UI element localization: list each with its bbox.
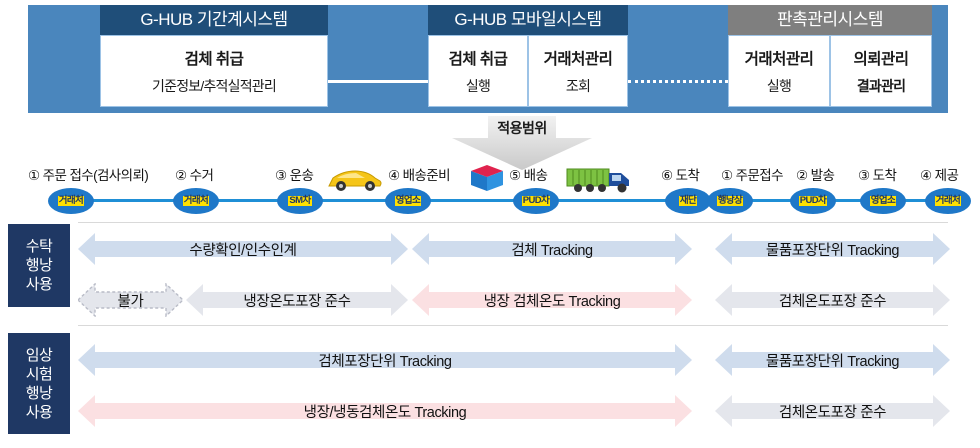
timeline-step-label: ② 수거 <box>175 164 213 184</box>
timeline-node[interactable]: SM차 <box>277 188 323 214</box>
system-cell[interactable]: 의뢰관리 결과관리 <box>830 35 932 107</box>
process-band-label: 물품포장단위 Tracking <box>766 350 899 371</box>
row-label-line: 수탁 <box>26 237 53 256</box>
timeline-node-label: PUD차 <box>522 196 550 206</box>
process-band-label: 냉장온도포장 준수 <box>243 290 350 311</box>
timeline-step-label: ③ 운송 <box>275 164 313 184</box>
system-box-promotion-mgmt: 판촉관리시스템 거래처관리 실행 의뢰관리 결과관리 <box>728 5 932 107</box>
timeline-step-label: ⑥ 도착 <box>661 164 699 184</box>
system-cell[interactable]: 검체 취급 기준정보/추적실적관리 <box>100 35 328 107</box>
timeline-step-label: ① 주문접수 <box>721 164 783 184</box>
timeline-node[interactable]: 영업소 <box>860 188 906 214</box>
timeline-step-label: ⑤ 배송 <box>509 164 547 184</box>
row-label-line: 임상 <box>26 346 53 365</box>
system-cell-line1: 거래처관리 <box>544 47 613 69</box>
timeline-node[interactable]: 영업소 <box>385 188 431 214</box>
system-cell-line1: 검체 취급 <box>185 47 244 69</box>
timeline-step-label: ④ 배송준비 <box>388 164 450 184</box>
truck-icon <box>566 165 634 195</box>
system-box-ghub-core: G-HUB 기간계시스템 검체 취급 기준정보/추적실적관리 <box>100 5 328 107</box>
system-cell-line2: 실행 <box>767 76 791 96</box>
system-cell-line1: 거래처관리 <box>745 47 814 69</box>
system-box-ghub-mobile: G-HUB 모바일시스템 검체 취급 실행 거래처관리 조회 <box>428 5 628 107</box>
row-label-clinical-trial: 임상 시험 행낭 사용 <box>8 333 70 434</box>
process-band-label: 수량확인/인수인계 <box>189 239 296 260</box>
process-band-label: 냉장/냉동검체온도 Tracking <box>304 401 467 422</box>
process-band: 냉장온도포장 준수 <box>186 283 408 317</box>
divider <box>78 325 948 326</box>
row-label-line: 사용 <box>26 403 53 422</box>
system-cell[interactable]: 검체 취급 실행 <box>428 35 528 107</box>
process-timeline: ① 주문 접수(검사의뢰) ② 수거 ③ 운송 ④ 배송준비 ⑤ 배송 ⑥ 도착… <box>0 160 980 215</box>
process-band-label: 검체온도포장 준수 <box>779 290 886 311</box>
timeline-node-label: 거래처 <box>935 196 961 206</box>
process-band-label: 물품포장단위 Tracking <box>766 239 899 260</box>
timeline-step-label: ③ 도착 <box>858 164 896 184</box>
system-title-ghub-mobile: G-HUB 모바일시스템 <box>428 5 628 35</box>
timeline-node[interactable]: 재단 <box>665 188 711 214</box>
system-cell[interactable]: 거래처관리 조회 <box>528 35 628 107</box>
system-cell-line2: 조회 <box>566 76 590 96</box>
package-icon <box>470 163 504 195</box>
car-icon <box>325 164 383 194</box>
process-band: 검체 Tracking <box>412 232 692 266</box>
system-cell-line1: 의뢰관리 <box>853 47 908 69</box>
timeline-step-label: ① 주문 접수(검사의뢰) <box>28 164 148 184</box>
row-label-line: 행낭 <box>26 384 53 403</box>
timeline-step-label: ④ 제공 <box>920 164 958 184</box>
timeline-node[interactable]: PUD차 <box>513 188 559 214</box>
system-cell-line1: 검체 취급 <box>449 47 508 69</box>
process-band: 냉장/냉동검체온도 Tracking <box>78 394 692 428</box>
systems-panel: G-HUB 기간계시스템 검체 취급 기준정보/추적실적관리 G-HUB 모바일… <box>28 5 948 113</box>
row-label-line: 시험 <box>26 365 53 384</box>
timeline-node[interactable]: 거래처 <box>48 188 94 214</box>
row-label-consignment: 수탁 행낭 사용 <box>8 224 70 307</box>
timeline-node[interactable]: PUD차 <box>790 188 836 214</box>
process-band: 냉장 검체온도 Tracking <box>412 283 692 317</box>
process-band: 검체포장단위 Tracking <box>78 343 692 377</box>
process-band: 물품포장단위 Tracking <box>715 232 950 266</box>
divider <box>78 222 948 223</box>
system-cell[interactable]: 거래처관리 실행 <box>728 35 830 107</box>
process-band-label: 불가 <box>118 290 144 311</box>
timeline-node[interactable]: 거래처 <box>173 188 219 214</box>
process-band: 물품포장단위 Tracking <box>715 343 950 377</box>
timeline-node-label: 영업소 <box>870 196 896 206</box>
process-band-label: 검체포장단위 Tracking <box>318 350 451 371</box>
scope-label: 적용범위 <box>452 118 592 138</box>
connector-dotted <box>628 80 728 83</box>
system-cell-line2: 결과관리 <box>857 76 905 96</box>
row-label-line: 사용 <box>26 275 53 294</box>
system-title-promotion-mgmt: 판촉관리시스템 <box>728 5 932 35</box>
process-band: 불가 <box>78 283 183 317</box>
timeline-step-label: ② 발송 <box>796 164 834 184</box>
timeline-node-label: 재단 <box>679 196 697 206</box>
system-cell-line2: 기준정보/추적실적관리 <box>152 76 276 96</box>
process-band: 검체온도포장 준수 <box>715 394 950 428</box>
process-band-label: 검체온도포장 준수 <box>779 401 886 422</box>
timeline-node-label: 거래처 <box>58 196 84 206</box>
timeline-node-label: PUD차 <box>799 196 827 206</box>
timeline-node-label: SM차 <box>288 196 311 206</box>
timeline-node[interactable]: 행낭상 <box>707 188 753 214</box>
connector-solid <box>328 80 428 83</box>
process-band: 수량확인/인수인계 <box>78 232 408 266</box>
diagram-canvas: G-HUB 기간계시스템 검체 취급 기준정보/추적실적관리 G-HUB 모바일… <box>0 0 980 448</box>
timeline-line-segment-a <box>50 199 690 202</box>
process-band-label: 검체 Tracking <box>511 239 592 260</box>
timeline-node-label: 행낭상 <box>717 196 743 206</box>
timeline-node[interactable]: 거래처 <box>925 188 971 214</box>
row-label-line: 행낭 <box>26 256 53 275</box>
process-band: 검체온도포장 준수 <box>715 283 950 317</box>
timeline-node-label: 거래처 <box>183 196 209 206</box>
process-band-label: 냉장 검체온도 Tracking <box>484 290 621 311</box>
system-cell-line2: 실행 <box>466 76 490 96</box>
system-title-ghub-core: G-HUB 기간계시스템 <box>100 5 328 35</box>
timeline-node-label: 영업소 <box>395 196 421 206</box>
